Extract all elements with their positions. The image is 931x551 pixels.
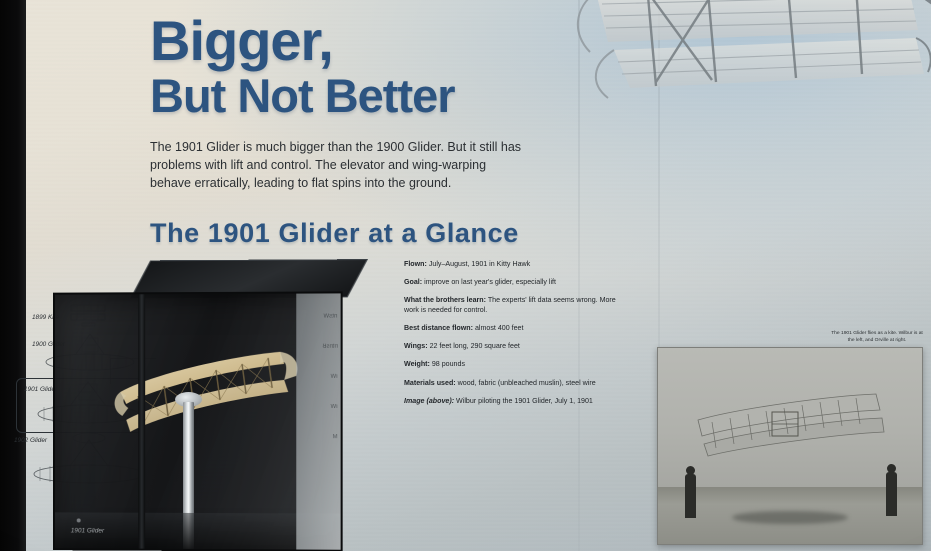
hanging-glider-replica <box>556 0 931 113</box>
case-glass-reflection-band: ntsW ntnsB iW iW M <box>296 293 340 549</box>
photo-glider-kite <box>690 390 890 460</box>
spec-row: Weight: 98 pounds <box>404 360 619 369</box>
spec-label: Image (above): <box>404 397 454 405</box>
spec-label: Materials used: <box>404 379 456 387</box>
spec-label: Flown: <box>404 260 427 268</box>
intro-paragraph: The 1901 Glider is much bigger than the … <box>150 138 530 192</box>
spec-label: Wings: <box>404 342 428 350</box>
mirror-reflection-text: iW <box>331 404 338 410</box>
headline-line-1: Bigger, <box>150 14 570 69</box>
mirror-reflection-text: iW <box>331 374 338 380</box>
mirror-reflection-text: ntnsB <box>322 344 337 350</box>
exhibit-panel-scene: Bigger, But Not Better The 1901 Glider i… <box>0 0 931 551</box>
mirror-reflection-text: ntsW <box>324 314 338 320</box>
page-title: Bigger, But Not Better <box>150 14 570 119</box>
spec-label: Weight: <box>404 360 430 368</box>
spec-label: Goal: <box>404 278 422 286</box>
spec-list: Flown: July–August, 1901 in Kitty Hawk G… <box>404 260 619 406</box>
spec-value: improve on last year's glider, especiall… <box>424 278 556 286</box>
mirror-reflection-text: M <box>333 434 338 440</box>
spec-value: Wilbur piloting the 1901 Glider, July 1,… <box>456 397 593 405</box>
display-case: 1901 Glider ntsW ntnsB iW iW M <box>53 259 358 551</box>
photo-person-wilbur <box>685 474 696 518</box>
spec-value: wood, fabric (unbleached muslin), steel … <box>458 379 596 387</box>
spec-row: Image (above): Wilbur piloting the 1901 … <box>404 397 619 406</box>
case-floor-marker <box>77 518 81 522</box>
spec-value: 98 pounds <box>432 360 465 368</box>
spec-row: Flown: July–August, 1901 in Kitty Hawk <box>404 260 619 269</box>
headline-line-2: But Not Better <box>150 73 570 119</box>
spec-row: Best distance flown: almost 400 feet <box>404 324 619 333</box>
photo-person-orville-head <box>887 464 896 473</box>
historical-photograph <box>657 347 923 545</box>
spec-value: 22 feet long, 290 square feet <box>430 342 520 350</box>
spec-label: What the brothers learn: <box>404 296 486 304</box>
spec-row: What the brothers learn: The experts' li… <box>404 296 619 314</box>
spec-row: Goal: improve on last year's glider, esp… <box>404 278 619 287</box>
spec-row: Materials used: wood, fabric (unbleached… <box>404 379 619 388</box>
section-title: The 1901 Glider at a Glance <box>150 218 519 249</box>
photo-person-orville <box>886 472 897 516</box>
photo-person-wilbur-head <box>686 466 695 475</box>
display-case-corner-post <box>138 294 145 548</box>
photo-caption: The 1901 Glider flies as a kite. Wilbur … <box>828 330 926 344</box>
spec-value: July–August, 1901 in Kitty Hawk <box>429 260 530 268</box>
diagram-label-1902-glider: 1902 Glider <box>14 437 47 444</box>
spec-label: Best distance flown: <box>404 324 473 332</box>
spec-value: almost 400 feet <box>475 324 524 332</box>
spec-row: Wings: 22 feet long, 290 square feet <box>404 342 619 351</box>
case-object-label: 1901 Glider <box>71 527 104 534</box>
display-case-glass: 1901 Glider ntsW ntnsB iW iW M <box>53 291 343 551</box>
